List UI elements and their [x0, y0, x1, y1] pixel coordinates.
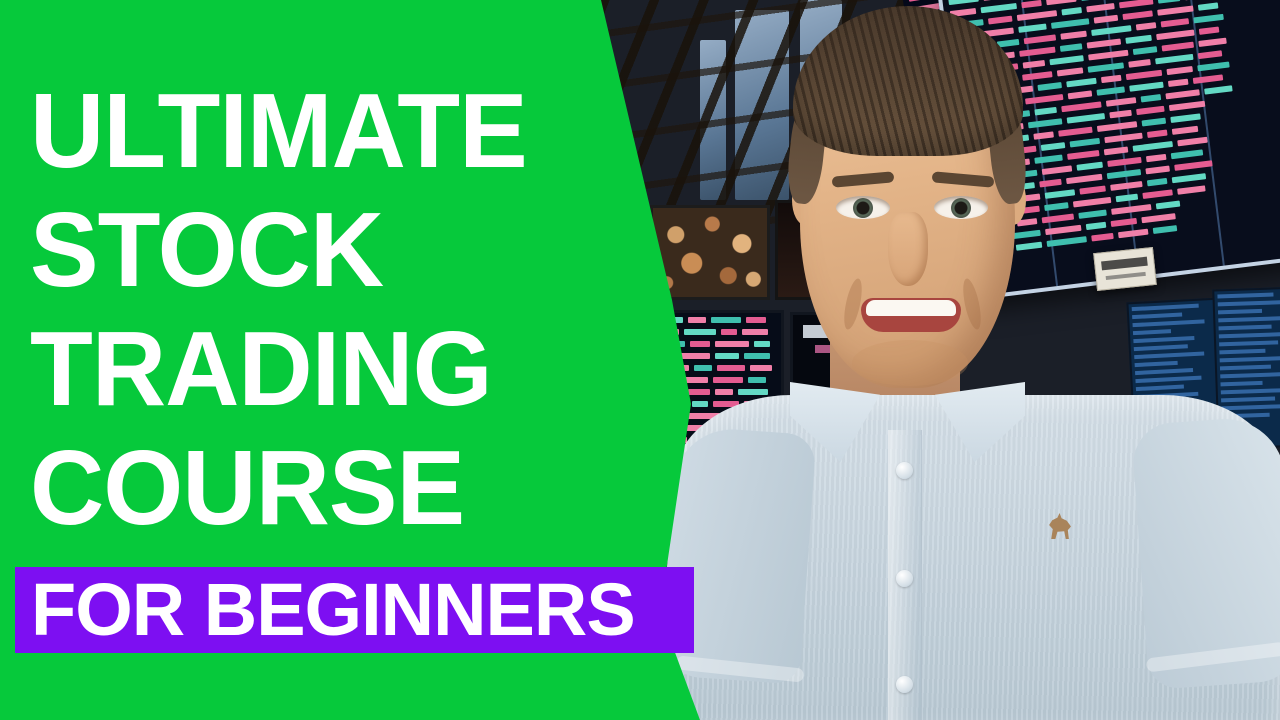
shirt-button — [896, 462, 913, 479]
eye-left — [836, 196, 890, 219]
video-thumbnail: ULTIMATE STOCK TRADING COURSE FOR BEGINN… — [0, 0, 1280, 720]
eye-right — [934, 196, 988, 219]
title-line-4: COURSE — [30, 429, 631, 548]
shirt-button — [896, 676, 913, 693]
subtitle-badge-label: FOR BEGINNERS — [15, 573, 635, 647]
title-line-3: TRADING — [30, 310, 631, 429]
mouth — [861, 298, 961, 332]
nose — [888, 212, 928, 286]
title-line-2: STOCK — [30, 191, 631, 310]
title-block: ULTIMATE STOCK TRADING COURSE — [30, 72, 650, 548]
chin — [852, 340, 968, 386]
shirt-button — [896, 570, 913, 587]
hair — [793, 6, 1023, 156]
title-line-1: ULTIMATE — [30, 72, 631, 191]
subtitle-badge: FOR BEGINNERS — [15, 567, 694, 653]
